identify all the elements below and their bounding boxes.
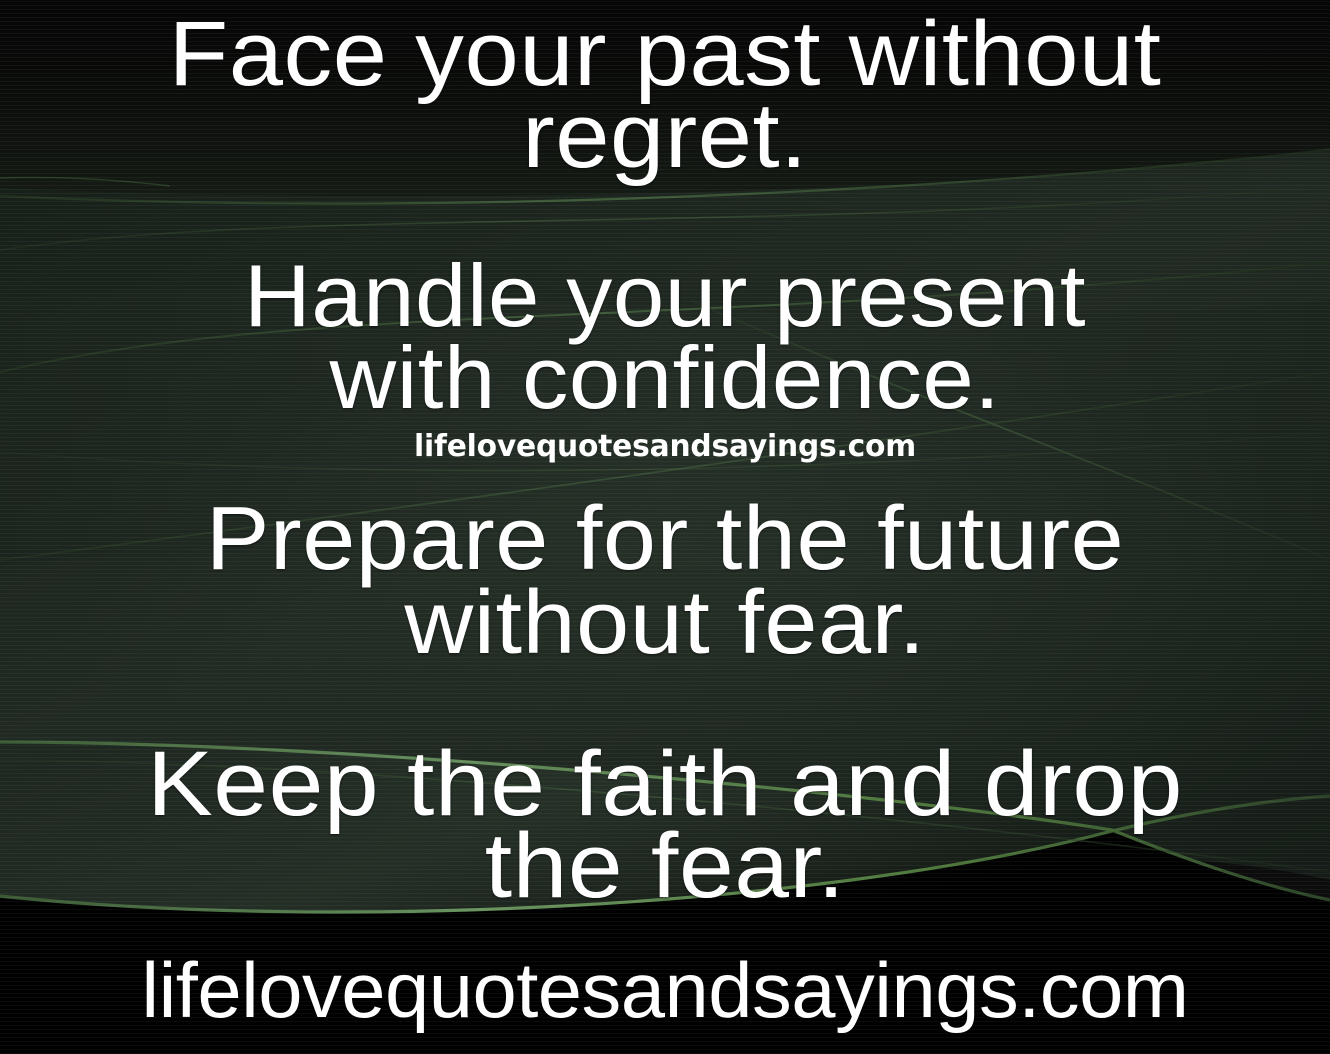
quote-line-6: without fear. [0, 578, 1330, 668]
watermark-bottom: lifelovequotesandsayings.com [0, 951, 1330, 1029]
watermark-middle: lifelovequotesandsayings.com [7, 432, 1324, 462]
quote-line-3: Handle your present [0, 252, 1330, 340]
quote-line-8: the fear. [0, 820, 1330, 912]
quote-line-2: regret. [0, 90, 1330, 182]
quote-poster: Face your past without regret. Handle yo… [0, 0, 1330, 1054]
quote-line-5: Prepare for the future [0, 494, 1330, 584]
quote-line-4: with confidence. [0, 334, 1330, 422]
quote-text-layer: Face your past without regret. Handle yo… [0, 0, 1330, 1054]
